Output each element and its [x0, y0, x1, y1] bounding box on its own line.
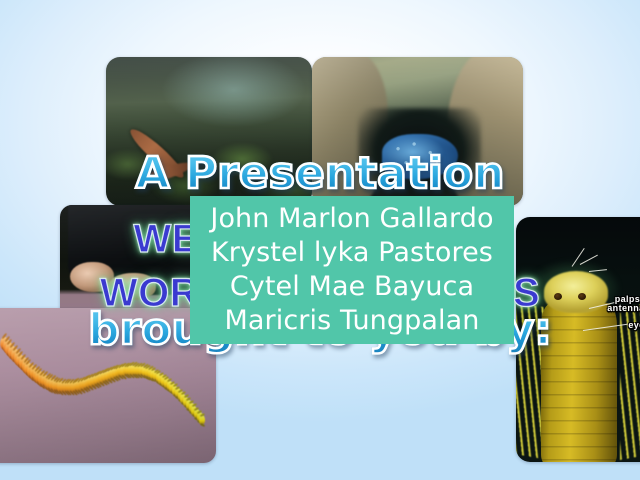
presenter-names: John Marlon Gallardo Krystel lyka Pastor…	[190, 202, 514, 338]
names-panel[interactable]: John Marlon Gallardo Krystel lyka Pastor…	[190, 196, 514, 344]
title-line-1-text: A Presentation	[136, 148, 505, 199]
presentation-slide: palps & antennae eyes WELCOME TO THE WOR…	[0, 0, 640, 480]
title-line-1: A Presentation	[0, 96, 640, 200]
